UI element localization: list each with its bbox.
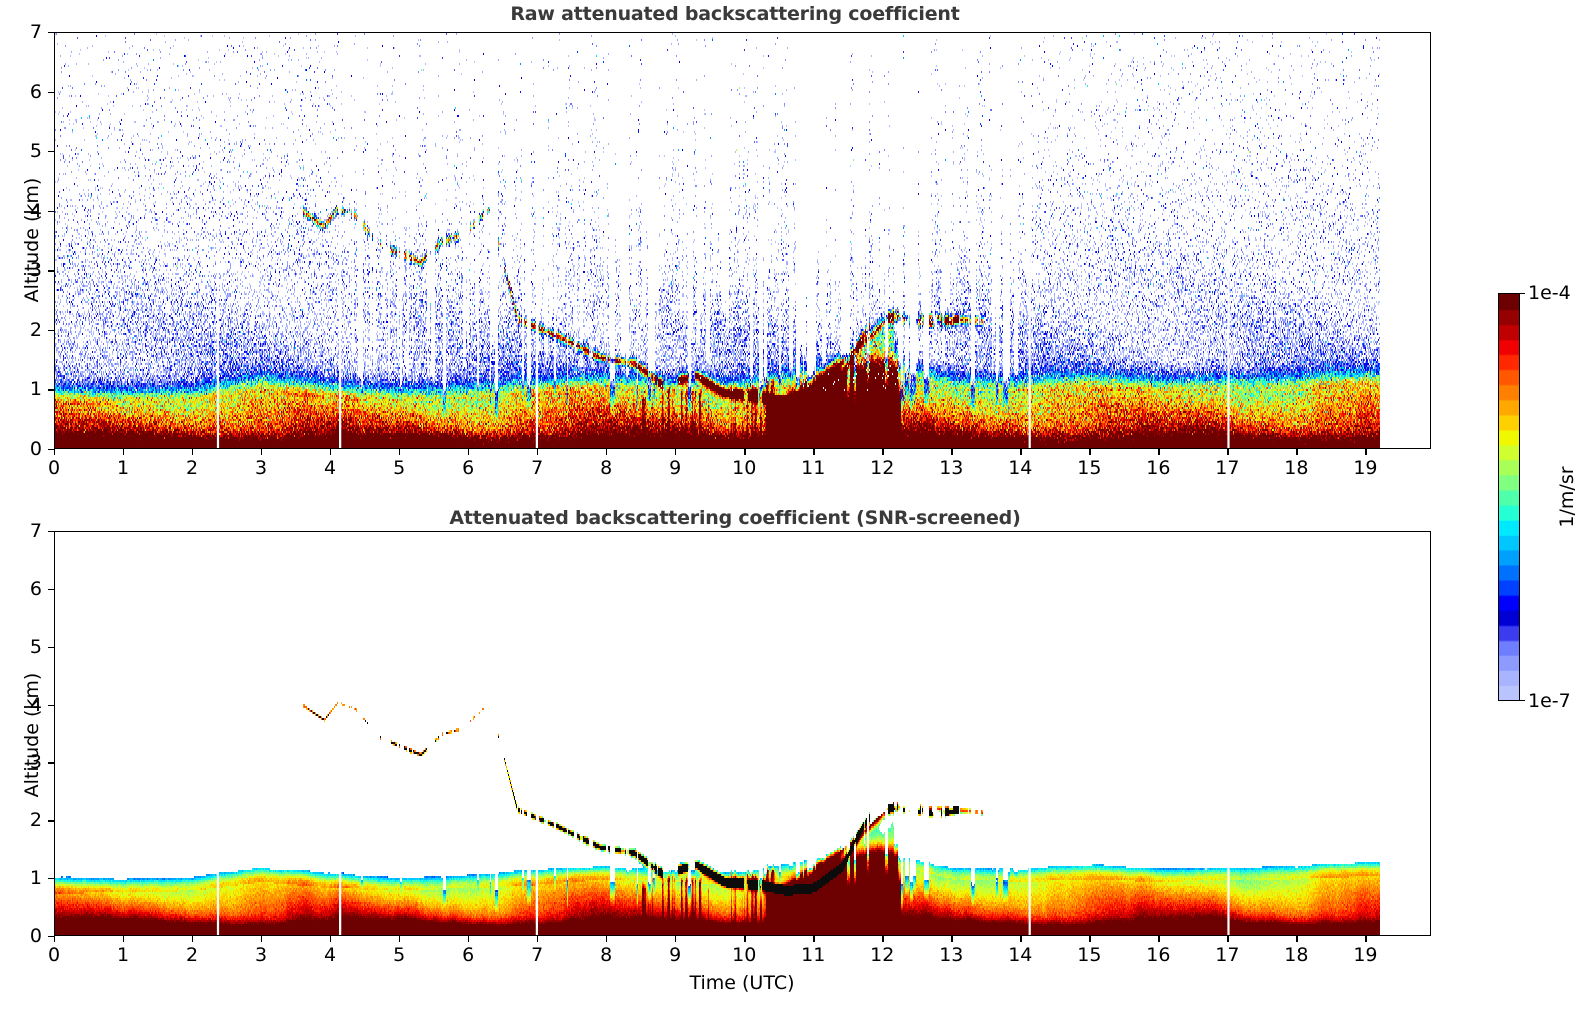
x-tick-label: 15 <box>1077 457 1101 479</box>
x-tick <box>468 936 469 942</box>
x-tick <box>882 936 883 942</box>
y-tick <box>48 211 54 212</box>
x-tick <box>123 936 124 942</box>
x-tick <box>1089 936 1090 942</box>
x-tick <box>192 449 193 455</box>
panel-raw-plot-area <box>54 32 1431 449</box>
x-tick <box>882 449 883 455</box>
x-tick <box>537 936 538 942</box>
y-tick-label: 5 <box>10 636 42 658</box>
y-tick <box>48 151 54 152</box>
x-tick-label: 1 <box>117 944 129 966</box>
x-tick <box>1365 936 1366 942</box>
x-tick <box>1227 936 1228 942</box>
x-tick-label: 6 <box>462 457 474 479</box>
x-tick-label: 3 <box>255 457 267 479</box>
x-tick <box>606 449 607 455</box>
y-tick <box>48 936 54 937</box>
x-tick <box>192 936 193 942</box>
y-tick-label: 7 <box>10 520 42 542</box>
x-tick-label: 13 <box>939 457 963 479</box>
colorbar-tick-top <box>1520 293 1525 294</box>
x-tick-label: 10 <box>732 944 756 966</box>
y-tick-label: 6 <box>10 81 42 103</box>
x-tick <box>1089 449 1090 455</box>
x-tick <box>951 449 952 455</box>
colorbar-canvas <box>1499 294 1519 700</box>
x-tick <box>1296 936 1297 942</box>
x-tick-label: 2 <box>186 457 198 479</box>
x-tick <box>330 449 331 455</box>
colorbar-label-max: 1e-4 <box>1528 282 1571 304</box>
x-tick <box>744 449 745 455</box>
colorbar-label-min: 1e-7 <box>1528 690 1571 712</box>
x-tick-label: 9 <box>669 457 681 479</box>
x-tick <box>1020 449 1021 455</box>
y-tick-label: 1 <box>10 867 42 889</box>
x-tick <box>813 449 814 455</box>
panel-raw-title: Raw attenuated backscattering coefficien… <box>0 3 1470 25</box>
x-tick-label: 15 <box>1077 944 1101 966</box>
panel-screened-title: Attenuated backscattering coefficient (S… <box>0 507 1470 529</box>
x-tick-label: 18 <box>1284 457 1308 479</box>
x-tick-label: 13 <box>939 944 963 966</box>
x-tick <box>261 449 262 455</box>
x-tick-label: 2 <box>186 944 198 966</box>
x-tick <box>951 936 952 942</box>
x-tick-label: 16 <box>1146 944 1170 966</box>
x-tick-label: 17 <box>1215 944 1239 966</box>
x-tick-label: 7 <box>531 457 543 479</box>
y-tick-label: 0 <box>10 925 42 947</box>
y-tick <box>48 647 54 648</box>
x-tick-label: 5 <box>393 457 405 479</box>
y-tick-label: 7 <box>10 21 42 43</box>
x-tick-label: 4 <box>324 457 336 479</box>
y-tick <box>48 270 54 271</box>
colorbar-tick-bottom <box>1520 700 1525 701</box>
x-tick <box>1020 936 1021 942</box>
x-tick-label: 1 <box>117 457 129 479</box>
x-tick <box>813 936 814 942</box>
x-tick <box>744 936 745 942</box>
x-tick-label: 7 <box>531 944 543 966</box>
panel-screened: Attenuated backscattering coefficient (S… <box>0 500 1595 1020</box>
x-tick-label: 5 <box>393 944 405 966</box>
panel-raw-ylabel: Altitude (km) <box>21 178 43 303</box>
x-tick-label: 12 <box>870 944 894 966</box>
panel-raw: Raw attenuated backscattering coefficien… <box>0 0 1595 500</box>
x-tick <box>54 936 55 942</box>
y-tick <box>48 32 54 33</box>
x-tick <box>537 449 538 455</box>
colorbar-title: 1/m/sr <box>1556 466 1578 527</box>
x-tick-label: 0 <box>48 457 60 479</box>
x-tick-label: 9 <box>669 944 681 966</box>
x-tick-label: 12 <box>870 457 894 479</box>
x-tick-label: 6 <box>462 944 474 966</box>
y-tick-label: 6 <box>10 578 42 600</box>
x-tick <box>330 936 331 942</box>
y-tick <box>48 878 54 879</box>
y-tick-label: 0 <box>10 438 42 460</box>
y-tick <box>48 762 54 763</box>
y-tick-label: 2 <box>10 809 42 831</box>
x-tick-label: 19 <box>1353 457 1377 479</box>
x-tick-label: 10 <box>732 457 756 479</box>
panel-screened-plot-area <box>54 531 1431 936</box>
x-tick-label: 4 <box>324 944 336 966</box>
x-tick-label: 14 <box>1008 457 1032 479</box>
panel-screened-xlabel: Time (UTC) <box>689 972 794 994</box>
lidar-figure: Raw attenuated backscattering coefficien… <box>0 0 1595 1020</box>
panel-screened-ylabel: Altitude (km) <box>21 673 43 798</box>
x-tick-label: 0 <box>48 944 60 966</box>
x-tick <box>606 936 607 942</box>
x-tick-label: 11 <box>801 457 825 479</box>
x-tick-label: 11 <box>801 944 825 966</box>
x-tick <box>468 449 469 455</box>
x-tick <box>261 936 262 942</box>
y-tick <box>48 589 54 590</box>
y-tick-label: 2 <box>10 319 42 341</box>
y-tick-label: 5 <box>10 140 42 162</box>
y-tick <box>48 705 54 706</box>
x-tick <box>399 936 400 942</box>
y-tick <box>48 389 54 390</box>
x-tick <box>675 449 676 455</box>
colorbar: 1e-4 1e-7 1/m/sr <box>1480 280 1595 710</box>
y-tick <box>48 449 54 450</box>
x-tick <box>123 449 124 455</box>
x-tick <box>1158 449 1159 455</box>
colorbar-gradient <box>1498 293 1520 701</box>
x-tick <box>1158 936 1159 942</box>
x-tick-label: 3 <box>255 944 267 966</box>
y-tick <box>48 330 54 331</box>
x-tick-label: 17 <box>1215 457 1239 479</box>
panel-screened-heatmap <box>55 532 1431 936</box>
y-tick-label: 1 <box>10 378 42 400</box>
y-tick <box>48 531 54 532</box>
x-tick-label: 19 <box>1353 944 1377 966</box>
x-tick-label: 8 <box>600 944 612 966</box>
x-tick-label: 16 <box>1146 457 1170 479</box>
x-tick-label: 18 <box>1284 944 1308 966</box>
x-tick <box>1296 449 1297 455</box>
y-tick <box>48 92 54 93</box>
x-tick <box>675 936 676 942</box>
x-tick-label: 8 <box>600 457 612 479</box>
x-tick <box>54 449 55 455</box>
x-tick <box>399 449 400 455</box>
panel-raw-heatmap <box>55 33 1431 449</box>
x-tick <box>1227 449 1228 455</box>
y-tick <box>48 820 54 821</box>
x-tick-label: 14 <box>1008 944 1032 966</box>
x-tick <box>1365 449 1366 455</box>
